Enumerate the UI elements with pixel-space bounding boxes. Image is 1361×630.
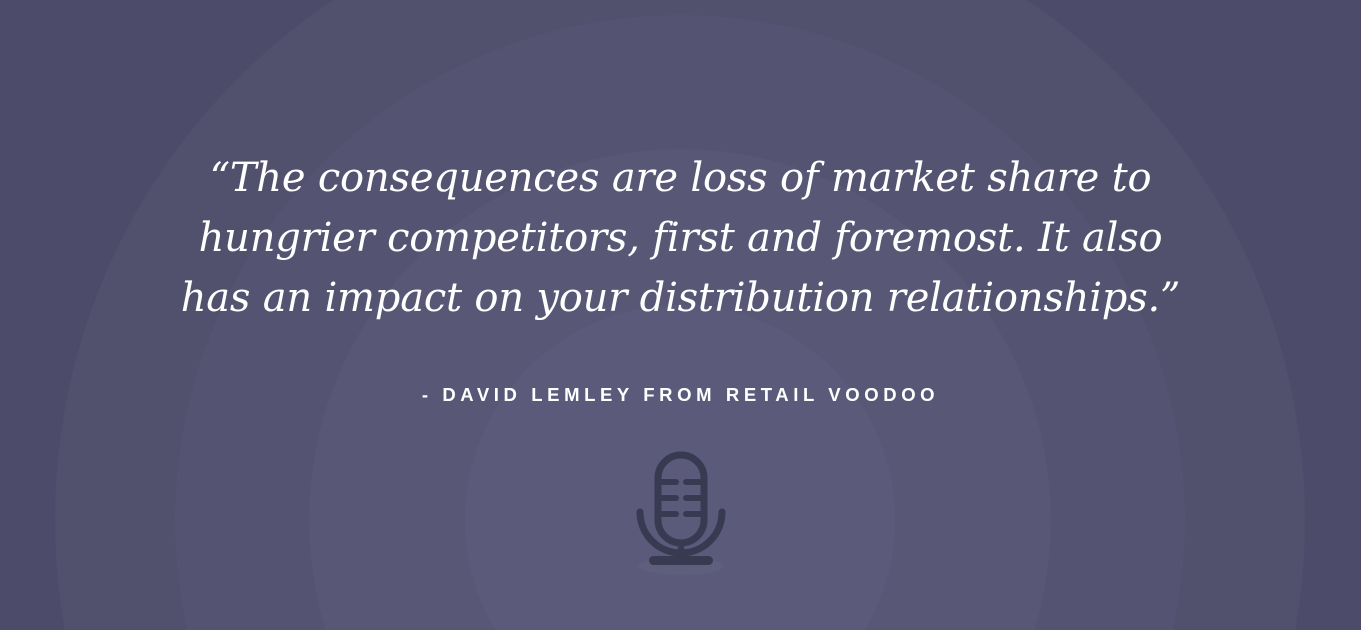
quote-attribution: - DAVID LEMLEY FROM RETAIL VOODOO xyxy=(422,384,939,406)
microphone-base-bar xyxy=(649,556,713,565)
quote-slide: “The consequences are loss of market sha… xyxy=(0,0,1361,630)
microphone-icon xyxy=(621,448,741,578)
microphone-grille-lines xyxy=(662,482,700,514)
slide-content: “The consequences are loss of market sha… xyxy=(0,0,1361,630)
quote-text: “The consequences are loss of market sha… xyxy=(176,148,1186,328)
